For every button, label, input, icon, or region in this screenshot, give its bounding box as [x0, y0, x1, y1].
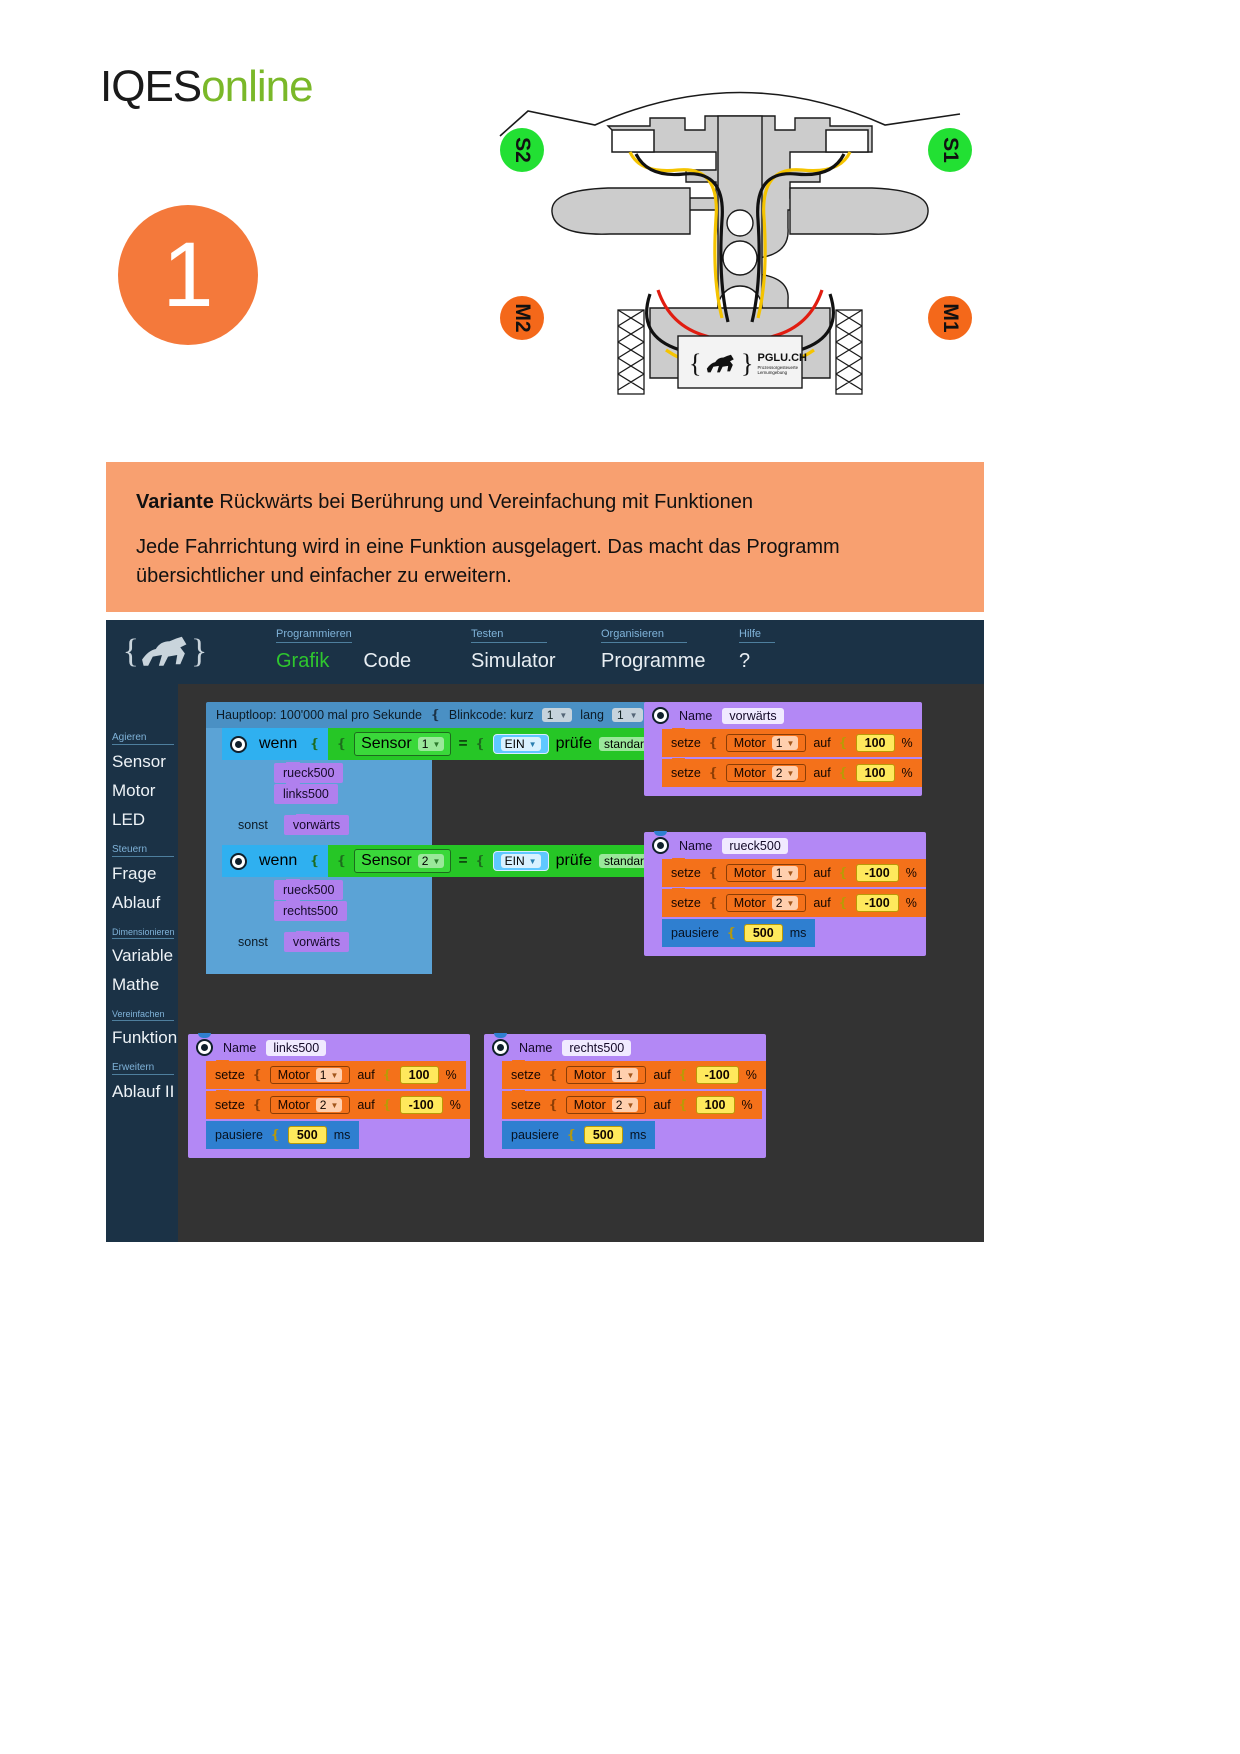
- radio-icon[interactable]: [230, 853, 247, 870]
- motor-number-dropdown[interactable]: 2▼: [612, 1098, 639, 1112]
- puzzle-notch-icon: ❴: [548, 1097, 559, 1113]
- motor-label: Motor: [734, 896, 766, 910]
- sensor-number-dropdown[interactable]: 1▼: [418, 737, 445, 751]
- sensor-slot-1[interactable]: Sensor 1▼: [354, 732, 451, 756]
- equals-operator: =: [458, 852, 467, 870]
- motor-number-dropdown[interactable]: 2▼: [316, 1098, 343, 1112]
- unit-label: %: [450, 1098, 461, 1112]
- sensor-number-value: 1: [422, 737, 429, 751]
- motor-value[interactable]: -100: [856, 864, 899, 882]
- pausiere-label: pausiere: [511, 1128, 559, 1142]
- note-title-bold: Variante: [136, 491, 214, 513]
- sidebar-item-ablauf-ii[interactable]: Ablauf II: [112, 1082, 178, 1102]
- sidebar-category-vereinfachen: Vereinfachen: [112, 1009, 174, 1021]
- board-logo-sub2: Lernumgebung: [758, 371, 808, 375]
- puzzle-notch-icon: ❴: [475, 853, 486, 869]
- pausiere-label: pausiere: [671, 926, 719, 940]
- board-logo: { } PGLU.CH Prozessorgesteuerte Lernumge…: [683, 338, 807, 390]
- function-body: setze ❴ Motor 1▼ auf ❴ -100 % setze ❴ Mo…: [662, 859, 926, 947]
- brand-online: online: [201, 62, 312, 111]
- chevron-down-icon: ▼: [432, 857, 440, 866]
- puzzle-notch-icon: ❴: [838, 765, 849, 781]
- blinkcode-label: Blinkcode: kurz: [449, 708, 534, 722]
- if-keyword: wenn: [259, 852, 297, 870]
- pruefe-label: prüfe: [556, 735, 592, 753]
- auf-label: auf: [357, 1068, 374, 1082]
- sidebar-category-agieren: Agieren: [112, 732, 174, 745]
- sensor-number-dropdown[interactable]: 2▼: [418, 854, 445, 868]
- call-block[interactable]: vorwärts: [284, 932, 349, 952]
- function-header: Name links500: [188, 1034, 470, 1061]
- motor-slot[interactable]: Motor 1▼: [726, 864, 807, 882]
- chevron-down-icon: ▼: [626, 1071, 634, 1080]
- motor-slot[interactable]: Motor 2▼: [726, 764, 807, 782]
- variant-note: Variante Rückwärts bei Berührung und Ver…: [106, 462, 984, 612]
- chevron-down-icon: ▼: [529, 740, 537, 749]
- nav-group-testen: Testen Simulator: [471, 628, 555, 673]
- program-canvas[interactable]: Hauptloop: 100'000 mal pro Sekunde ❴ Bli…: [178, 684, 984, 1242]
- unit-label: ms: [630, 1128, 647, 1142]
- app-sidebar: Agieren Sensor Motor LED Steuern Frage A…: [106, 684, 178, 1242]
- mainloop-block[interactable]: Hauptloop: 100'000 mal pro Sekunde ❴ Bli…: [206, 702, 653, 974]
- function-name-label: Name: [679, 839, 712, 853]
- motor-number-dropdown[interactable]: 1▼: [316, 1068, 343, 1082]
- puzzle-notch-icon: ❴: [548, 1067, 559, 1083]
- setze-label: setze: [215, 1098, 245, 1112]
- call-block[interactable]: rueck500: [274, 763, 343, 783]
- state-value: EIN: [505, 737, 525, 751]
- radio-icon[interactable]: [652, 707, 669, 724]
- function-block-vorwaerts[interactable]: Name vorwärts setze ❴ Motor 1▼ auf ❴ 100…: [644, 702, 922, 796]
- radio-icon[interactable]: [196, 1039, 213, 1056]
- puzzle-notch-icon: ❴: [252, 1067, 263, 1083]
- sidebar-item-led[interactable]: LED: [112, 810, 178, 830]
- label-s2: S2: [500, 128, 544, 172]
- unit-label: %: [906, 896, 917, 910]
- note-title-rest: Rückwärts bei Berührung und Vereinfachun…: [214, 491, 753, 513]
- setze-label: setze: [671, 866, 701, 880]
- motor-number-value: 2: [320, 1098, 327, 1112]
- brace-left-icon: {: [123, 633, 139, 671]
- motor-label: Motor: [574, 1098, 606, 1112]
- puzzle-notch-icon: ❴: [336, 736, 347, 752]
- puzzle-notch-icon: ❴: [838, 735, 849, 751]
- function-body: setze ❴ Motor 1▼ auf ❴ -100 % setze ❴ Mo…: [502, 1061, 766, 1149]
- motor-label: Motor: [734, 736, 766, 750]
- if-keyword: wenn: [259, 735, 297, 753]
- motor-slot[interactable]: Motor 1▼: [270, 1066, 351, 1084]
- chevron-down-icon: ▼: [786, 769, 794, 778]
- unit-label: %: [902, 736, 913, 750]
- blinkcode-kurz-value: 1: [547, 708, 554, 722]
- label-m2: M2: [500, 296, 544, 340]
- chevron-down-icon: ▼: [786, 739, 794, 748]
- mainloop-footer: [206, 962, 432, 974]
- blinkcode-kurz-dropdown[interactable]: 1▼: [542, 708, 573, 722]
- setze-label: setze: [215, 1068, 245, 1082]
- function-name-value[interactable]: vorwärts: [722, 708, 783, 724]
- puzzle-notch-icon: ❴: [430, 707, 441, 723]
- motor-value[interactable]: -100: [856, 894, 899, 912]
- function-name-label: Name: [679, 709, 712, 723]
- unit-label: ms: [334, 1128, 351, 1142]
- setze-motor-statement[interactable]: setze ❴ Motor 2▼ auf ❴ -100 %: [206, 1091, 470, 1119]
- motor-number-value: 1: [776, 736, 783, 750]
- blinkcode-lang-value: 1: [617, 708, 624, 722]
- radio-icon[interactable]: [492, 1039, 509, 1056]
- if-then-calls-1: rueck500 links500: [274, 763, 432, 804]
- brand-logo: IQESonline: [100, 62, 313, 112]
- sidebar-item-sensor[interactable]: Sensor: [112, 752, 178, 772]
- motor-slot[interactable]: Motor 1▼: [726, 734, 807, 752]
- auf-label: auf: [357, 1098, 374, 1112]
- motor-number-dropdown[interactable]: 2▼: [772, 896, 799, 910]
- brace-left-icon: {: [689, 349, 701, 379]
- pausiere-value[interactable]: 500: [744, 924, 783, 942]
- blinkcode-lang-label: lang: [580, 708, 604, 722]
- puzzle-notch-icon: ❴: [708, 765, 719, 781]
- unit-label: %: [902, 766, 913, 780]
- function-body: setze ❴ Motor 1▼ auf ❴ 100 % setze ❴ Mot…: [662, 729, 922, 787]
- function-header: Name vorwärts: [644, 702, 922, 729]
- auf-label: auf: [813, 736, 830, 750]
- pausiere-statement[interactable]: pausiere ❴ 500 ms: [206, 1121, 359, 1149]
- pausiere-value[interactable]: 500: [584, 1126, 623, 1144]
- setze-motor-statement[interactable]: setze ❴ Motor 1▼ auf ❴ 100 %: [662, 729, 922, 757]
- motor-slot[interactable]: Motor 2▼: [566, 1096, 647, 1114]
- note-body: Jede Fahrrichtung wird in eine Funktion …: [136, 533, 954, 591]
- sidebar-item-frage[interactable]: Frage: [112, 864, 178, 884]
- brace-right-icon: }: [741, 349, 753, 379]
- chevron-down-icon: ▼: [529, 857, 537, 866]
- puzzle-notch-icon: ❴: [382, 1067, 393, 1083]
- function-name-value[interactable]: rueck500: [722, 838, 787, 854]
- motor-label: Motor: [574, 1068, 606, 1082]
- sidebar-item-mathe[interactable]: Mathe: [112, 975, 178, 995]
- if-else-row-1: sonst vorwärts: [222, 815, 432, 835]
- setze-label: setze: [511, 1098, 541, 1112]
- tab-hilfe[interactable]: ?: [739, 650, 750, 673]
- chevron-down-icon: ▼: [330, 1101, 338, 1110]
- setze-motor-statement[interactable]: setze ❴ Motor 1▼ auf ❴ -100 %: [662, 859, 926, 887]
- motor-slot[interactable]: Motor 2▼: [726, 894, 807, 912]
- motor-label: Motor: [734, 766, 766, 780]
- if-condition-2[interactable]: ❴ Sensor 2▼ = ❴ EIN▼ prüfe standard▼: [328, 845, 680, 877]
- puzzle-notch-icon: ❴: [708, 735, 719, 751]
- equals-operator: =: [458, 735, 467, 753]
- pglu-app-window: { } Programmieren Grafik Code Testen Sim…: [106, 620, 984, 1242]
- unit-label: %: [746, 1068, 757, 1082]
- sensor-label: Sensor: [361, 852, 412, 870]
- chevron-down-icon: ▼: [786, 869, 794, 878]
- nav-group-organisieren: Organisieren Programme: [601, 628, 705, 673]
- chevron-down-icon: ▼: [559, 711, 567, 720]
- sonst-label: sonst: [238, 818, 268, 832]
- nav-group-programmieren: Programmieren Grafik Code: [276, 628, 411, 673]
- puzzle-notch-icon: ❴: [838, 895, 849, 911]
- puzzle-notch-icon: ❴: [566, 1127, 577, 1143]
- function-block-rueck500[interactable]: Name rueck500 setze ❴ Motor 1▼ auf ❴ -10…: [644, 832, 926, 956]
- unit-label: %: [446, 1068, 457, 1082]
- setze-motor-statement[interactable]: setze ❴ Motor 2▼ auf ❴ -100 %: [662, 889, 926, 917]
- state-slot-2[interactable]: EIN▼: [493, 851, 549, 871]
- setze-label: setze: [511, 1068, 541, 1082]
- state-value: EIN: [505, 854, 525, 868]
- label-s1: S1: [928, 128, 972, 172]
- setze-motor-statement[interactable]: setze ❴ Motor 2▼ auf ❴ 100 %: [662, 759, 922, 787]
- puzzle-notch-icon: ❴: [708, 865, 719, 881]
- motor-number-dropdown[interactable]: 1▼: [772, 866, 799, 880]
- mainloop-title: Hauptloop: 100'000 mal pro Sekunde: [216, 708, 422, 722]
- sidebar-category-erweitern: Erweitern: [112, 1062, 174, 1075]
- chevron-down-icon: ▼: [626, 1101, 634, 1110]
- nav-group-hilfe: Hilfe ?: [739, 628, 775, 673]
- state-slot-1[interactable]: EIN▼: [493, 734, 549, 754]
- unit-label: %: [906, 866, 917, 880]
- unit-label: %: [742, 1098, 753, 1112]
- auf-label: auf: [813, 896, 830, 910]
- puzzle-notch-icon: ❴: [726, 925, 737, 941]
- motor-value[interactable]: -100: [696, 1066, 739, 1084]
- function-header: Name rueck500: [644, 832, 926, 859]
- function-name-label: Name: [223, 1041, 256, 1055]
- puzzle-notch-icon: ❴: [838, 865, 849, 881]
- call-block[interactable]: vorwärts: [284, 815, 349, 835]
- radio-icon[interactable]: [230, 736, 247, 753]
- motor-number-value: 2: [776, 766, 783, 780]
- if-then-calls-2: rueck500 rechts500: [274, 880, 432, 921]
- call-block[interactable]: rechts500: [274, 901, 347, 921]
- tab-grafik[interactable]: Grafik: [276, 650, 329, 673]
- board-logo-title: PGLU.CH: [758, 353, 808, 364]
- auf-label: auf: [653, 1098, 670, 1112]
- nav-category-label: Testen: [471, 628, 547, 643]
- motor-value[interactable]: 100: [856, 764, 895, 782]
- motor-number-dropdown[interactable]: 2▼: [772, 766, 799, 780]
- sonst-label: sonst: [238, 935, 268, 949]
- function-block-rechts500[interactable]: Name rechts500 setze ❴ Motor 1▼ auf ❴ -1…: [484, 1034, 766, 1158]
- mainloop-header: Hauptloop: 100'000 mal pro Sekunde ❴ Bli…: [206, 702, 653, 728]
- motor-label: Motor: [734, 866, 766, 880]
- motor-number-dropdown[interactable]: 1▼: [612, 1068, 639, 1082]
- step-number-badge: 1: [118, 205, 258, 345]
- robot-diagram: { } PGLU.CH Prozessorgesteuerte Lernumge…: [490, 78, 990, 398]
- sidebar-item-motor[interactable]: Motor: [112, 781, 178, 801]
- call-block[interactable]: rueck500: [274, 880, 343, 900]
- sidebar-item-ablauf[interactable]: Ablauf: [112, 893, 178, 913]
- motor-label: Motor: [278, 1098, 310, 1112]
- mainloop-body: wenn ❴ ❴ Sensor 1▼ = ❴ EI: [206, 728, 432, 962]
- motor-slot[interactable]: Motor 2▼: [270, 1096, 351, 1114]
- state-dropdown[interactable]: EIN▼: [501, 737, 541, 751]
- motor-number-value: 2: [776, 896, 783, 910]
- pausiere-value[interactable]: 500: [288, 1126, 327, 1144]
- puzzle-notch-icon: ❴: [678, 1067, 689, 1083]
- motor-number-value: 1: [776, 866, 783, 880]
- pausiere-label: pausiere: [215, 1128, 263, 1142]
- note-title: Variante Rückwärts bei Berührung und Ver…: [136, 488, 954, 517]
- label-m1: M1: [928, 296, 972, 340]
- sensor-label: Sensor: [361, 735, 412, 753]
- function-header: Name rechts500: [484, 1034, 766, 1061]
- puzzle-notch-icon: ❴: [252, 1097, 263, 1113]
- if-branch-1[interactable]: wenn ❴ ❴ Sensor 1▼ = ❴ EI: [222, 728, 432, 835]
- puzzle-notch-icon: ❴: [475, 736, 486, 752]
- nav-category-label: Programmieren: [276, 628, 352, 643]
- chevron-down-icon: ▼: [330, 1071, 338, 1080]
- horse-icon: [705, 353, 737, 375]
- function-name-label: Name: [519, 1041, 552, 1055]
- motor-number-value: 2: [616, 1098, 623, 1112]
- tab-code[interactable]: Code: [363, 650, 411, 673]
- puzzle-notch-icon: ❴: [270, 1127, 281, 1143]
- chevron-down-icon: ▼: [432, 740, 440, 749]
- motor-value[interactable]: 100: [696, 1096, 735, 1114]
- puzzle-notch-icon: ❴: [309, 736, 320, 752]
- app-logo[interactable]: { }: [120, 628, 210, 676]
- auf-label: auf: [813, 866, 830, 880]
- setze-label: setze: [671, 766, 701, 780]
- pausiere-statement[interactable]: pausiere ❴ 500 ms: [662, 919, 815, 947]
- if-condition-1[interactable]: ❴ Sensor 1▼ = ❴ EIN▼ prüfe standard▼: [328, 728, 680, 760]
- setze-motor-statement[interactable]: setze ❴ Motor 2▼ auf ❴ 100 %: [502, 1091, 762, 1119]
- call-block[interactable]: links500: [274, 784, 338, 804]
- motor-value[interactable]: -100: [400, 1096, 443, 1114]
- sidebar-item-funktion[interactable]: Funktion: [112, 1028, 178, 1048]
- nav-category-label: Organisieren: [601, 628, 687, 643]
- function-body: setze ❴ Motor 1▼ auf ❴ 100 % setze ❴ Mot…: [206, 1061, 470, 1149]
- if-header-2: wenn ❴: [222, 845, 328, 877]
- chevron-down-icon: ▼: [630, 711, 638, 720]
- app-topbar: { } Programmieren Grafik Code Testen Sim…: [106, 620, 984, 684]
- motor-number-dropdown[interactable]: 1▼: [772, 736, 799, 750]
- tab-programme[interactable]: Programme: [601, 650, 705, 673]
- radio-icon[interactable]: [652, 837, 669, 854]
- motor-label: Motor: [278, 1068, 310, 1082]
- if-else-row-2: sonst vorwärts: [222, 932, 432, 952]
- tab-simulator[interactable]: Simulator: [471, 650, 555, 673]
- sidebar-item-variable[interactable]: Variable: [112, 946, 178, 966]
- auf-label: auf: [813, 766, 830, 780]
- puzzle-notch-icon: ❴: [708, 895, 719, 911]
- chevron-down-icon: ▼: [786, 899, 794, 908]
- puzzle-notch-icon: ❴: [336, 853, 347, 869]
- motor-number-value: 1: [320, 1068, 327, 1082]
- setze-label: setze: [671, 736, 701, 750]
- function-name-value[interactable]: rechts500: [562, 1040, 631, 1056]
- function-name-value[interactable]: links500: [266, 1040, 326, 1056]
- puzzle-notch-icon: ❴: [678, 1097, 689, 1113]
- brace-right-icon: }: [191, 633, 207, 671]
- state-dropdown[interactable]: EIN▼: [501, 854, 541, 868]
- function-block-links500[interactable]: Name links500 setze ❴ Motor 1▼ auf ❴ 100…: [188, 1034, 470, 1158]
- blinkcode-lang-dropdown[interactable]: 1▼: [612, 708, 643, 722]
- sensor-number-value: 2: [422, 854, 429, 868]
- sidebar-category-steuern: Steuern: [112, 844, 174, 857]
- auf-label: auf: [653, 1068, 670, 1082]
- motor-value[interactable]: 100: [856, 734, 895, 752]
- pausiere-statement[interactable]: pausiere ❴ 500 ms: [502, 1121, 655, 1149]
- motor-slot[interactable]: Motor 1▼: [566, 1066, 647, 1084]
- horse-icon: [139, 635, 191, 669]
- puzzle-notch-icon: ❴: [382, 1097, 393, 1113]
- sensor-slot-2[interactable]: Sensor 2▼: [354, 849, 451, 873]
- if-header-1: wenn ❴: [222, 728, 328, 760]
- puzzle-notch-icon: ❴: [309, 853, 320, 869]
- if-branch-2[interactable]: wenn ❴ ❴ Sensor 2▼ = ❴ EI: [222, 845, 432, 952]
- nav-category-label: Hilfe: [739, 628, 775, 643]
- pruefe-label: prüfe: [556, 852, 592, 870]
- motor-value[interactable]: 100: [400, 1066, 439, 1084]
- motor-number-value: 1: [616, 1068, 623, 1082]
- unit-label: ms: [790, 926, 807, 940]
- setze-motor-statement[interactable]: setze ❴ Motor 1▼ auf ❴ -100 %: [502, 1061, 766, 1089]
- sidebar-category-dimensionieren: Dimensionieren: [112, 927, 174, 939]
- setze-motor-statement[interactable]: setze ❴ Motor 1▼ auf ❴ 100 %: [206, 1061, 466, 1089]
- brand-iqes: IQES: [100, 62, 201, 111]
- setze-label: setze: [671, 896, 701, 910]
